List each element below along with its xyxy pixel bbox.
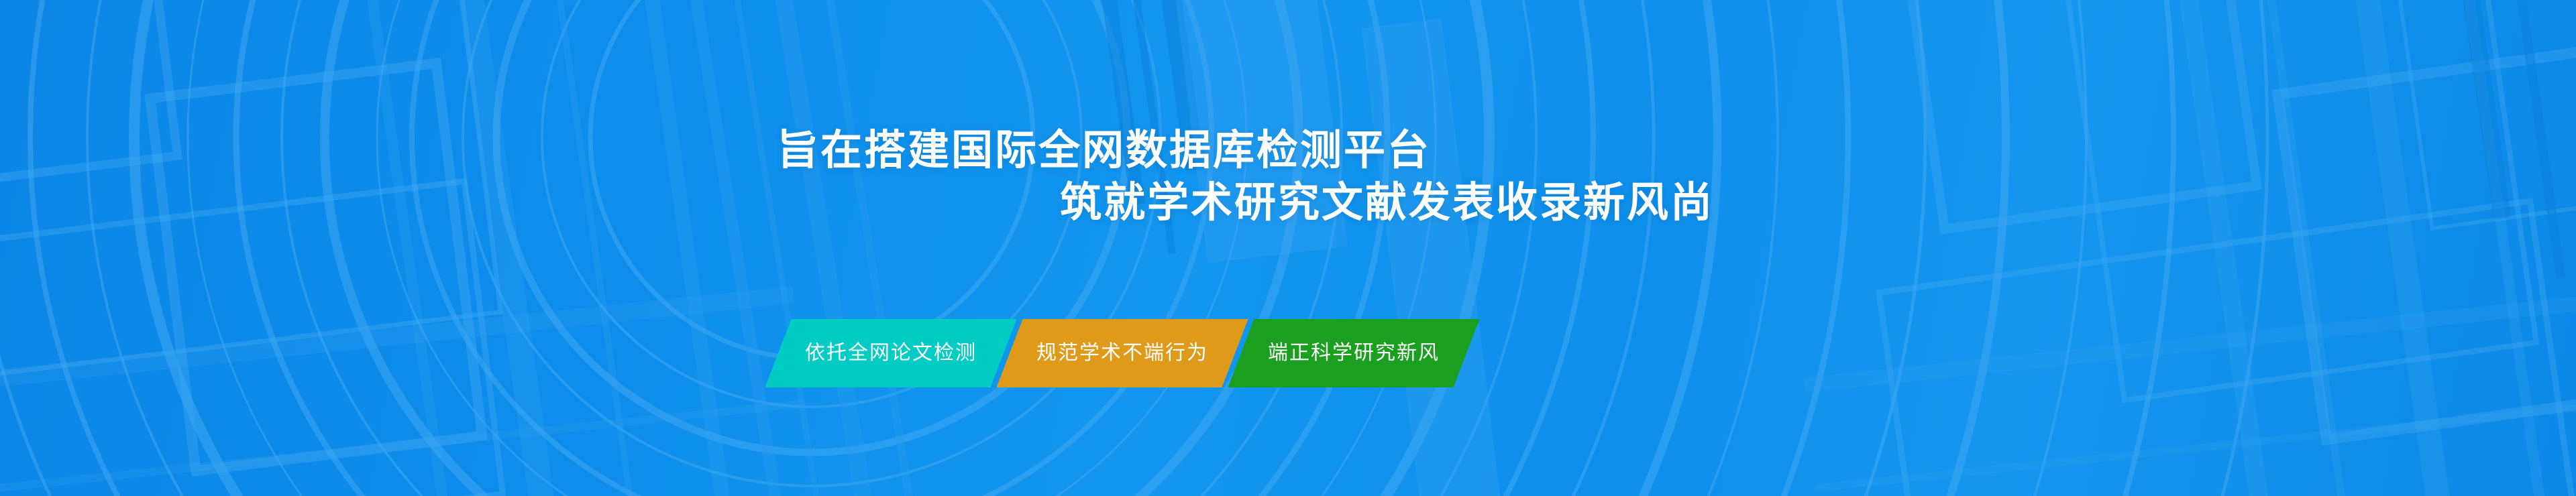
headline-line-2: 筑就学术研究文献发表收录新风尚 [771,177,1818,229]
hero-banner: 旨在搭建国际全网数据库检测平台 筑就学术研究文献发表收录新风尚 依托全网论文检测… [0,0,2576,496]
feature-badge-strip: 依托全网论文检测 规范学术不端行为 端正科学研究新风 [778,319,1466,387]
headline-line-1: 旨在搭建国际全网数据库检测平台 [771,125,1818,177]
feature-badge-label: 规范学术不端行为 [1036,343,1208,363]
feature-badge-plagiarism-detection[interactable]: 依托全网论文检测 [765,319,1016,387]
banner-content: 旨在搭建国际全网数据库检测平台 筑就学术研究文献发表收录新风尚 依托全网论文检测… [0,0,2576,496]
headline-block: 旨在搭建国际全网数据库检测平台 筑就学术研究文献发表收录新风尚 [771,125,1818,229]
feature-badge-label: 端正科学研究新风 [1268,343,1440,363]
feature-badge-label: 依托全网论文检测 [805,343,977,363]
feature-badge-research-integrity[interactable]: 端正科学研究新风 [1228,319,1479,387]
feature-badge-academic-misconduct[interactable]: 规范学术不端行为 [996,319,1248,387]
